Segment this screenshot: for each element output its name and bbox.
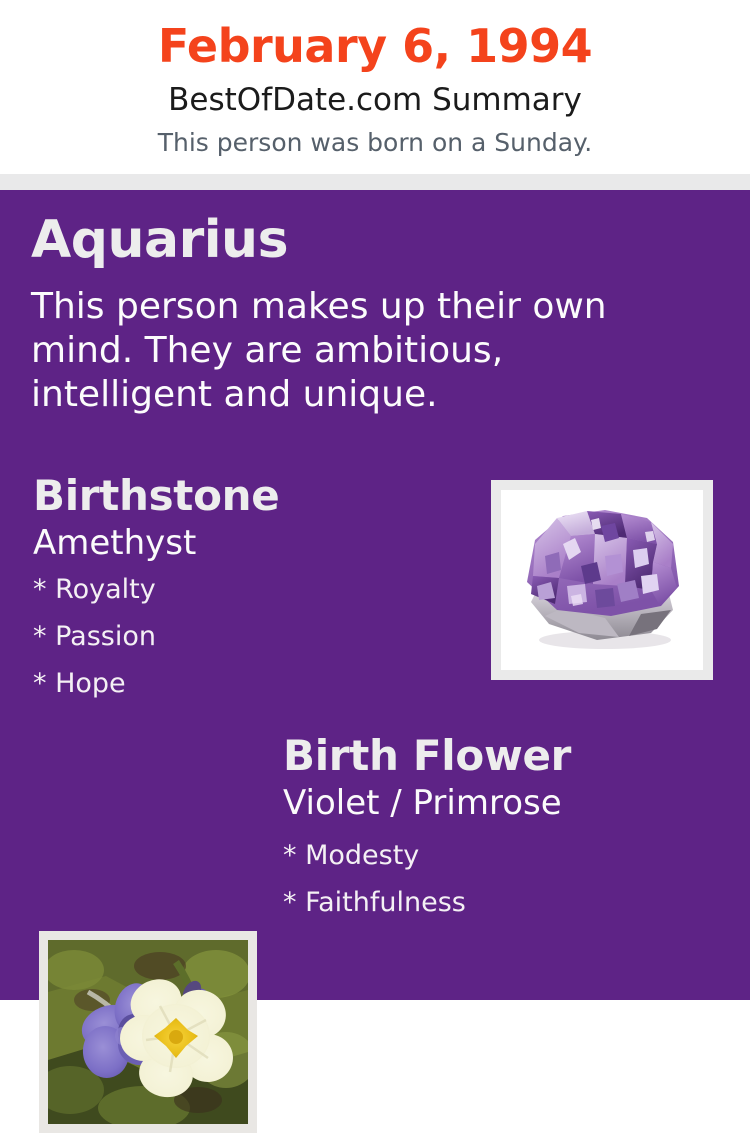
birthstone-trait-list: * Royalty * Passion * Hope [33, 576, 463, 697]
list-item: * Modesty [283, 842, 723, 869]
violet-primrose-flower-icon [48, 940, 248, 1124]
birth-flower-name: Violet / Primrose [283, 786, 723, 820]
list-item: * Royalty [33, 576, 463, 603]
zodiac-sign-title: Aquarius [31, 214, 288, 266]
birthstone-name: Amethyst [33, 526, 463, 560]
site-summary-label: BestOfDate.com Summary [0, 85, 750, 116]
summary-card: February 6, 1994 BestOfDate.com Summary … [0, 0, 750, 1000]
birthstone-section: Birthstone Amethyst * Royalty * Passion … [33, 475, 463, 717]
birthstone-heading: Birthstone [33, 475, 463, 517]
birth-flower-heading: Birth Flower [283, 735, 723, 777]
birth-flower-image-frame [39, 931, 257, 1133]
birth-flower-section: Birth Flower Violet / Primrose * Modesty… [283, 735, 723, 936]
details-panel: Aquarius This person makes up their own … [0, 190, 750, 1000]
birthstone-image-frame [491, 480, 713, 680]
list-item: * Faithfulness [283, 889, 723, 916]
list-item: * Hope [33, 670, 463, 697]
zodiac-description: This person makes up their own mind. The… [31, 285, 681, 417]
birth-flower-image [48, 940, 248, 1124]
weekday-note: This person was born on a Sunday. [0, 130, 750, 155]
card-header: February 6, 1994 BestOfDate.com Summary … [0, 0, 750, 174]
page-title-date: February 6, 1994 [0, 23, 750, 69]
birthstone-image [501, 490, 703, 670]
header-divider [0, 174, 750, 190]
birth-flower-trait-list: * Modesty * Faithfulness [283, 842, 723, 916]
amethyst-crystal-icon [501, 490, 703, 670]
list-item: * Passion [33, 623, 463, 650]
